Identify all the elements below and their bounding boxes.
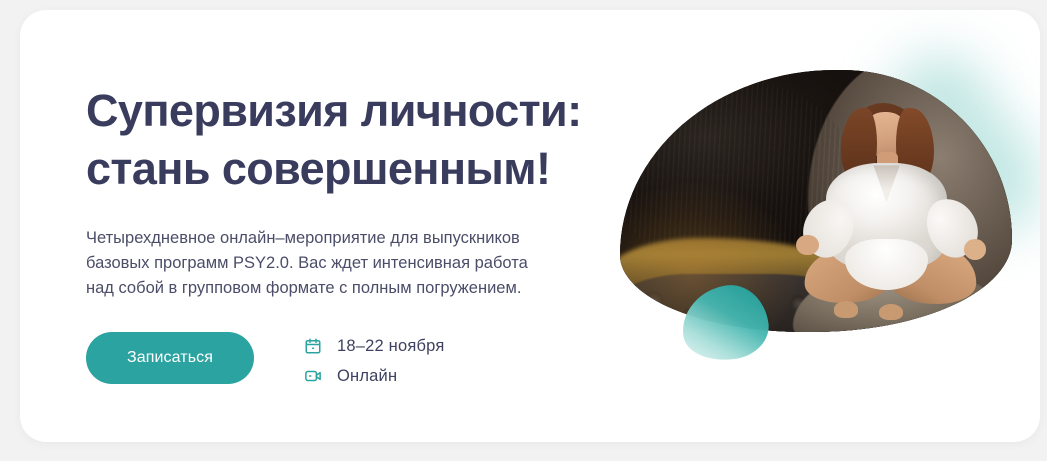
event-format-label: Онлайн: [337, 366, 397, 386]
signup-button[interactable]: Записаться: [86, 332, 254, 384]
meditating-woman: [792, 96, 980, 327]
hero-card: Супервизия личности: стань совершенным! …: [20, 10, 1040, 442]
foot-right: [879, 304, 903, 320]
event-meta-date: 18–22 ноября: [304, 336, 444, 356]
hero-description: Четырехдневное онлайн–мероприятие для вы…: [86, 226, 556, 301]
screenshot-root: Супервизия личности: стань совершенным! …: [0, 0, 1047, 461]
event-date-label: 18–22 ноября: [337, 336, 444, 356]
hand-right: [964, 239, 987, 260]
event-meta-list: 18–22 ноября Онлайн: [304, 332, 444, 386]
event-meta-format: Онлайн: [304, 366, 444, 386]
calendar-icon: [304, 337, 322, 355]
page-title: Супервизия личности: стань совершенным!: [86, 82, 586, 198]
hero-artwork: [606, 10, 1040, 442]
foot-left: [834, 301, 858, 317]
video-camera-icon: [304, 367, 322, 385]
hero-cta-row: Записаться 18–22 ноября: [86, 332, 444, 386]
hero-photo: [620, 70, 1012, 332]
photo-scene: [620, 70, 1012, 332]
hero-text-block: Супервизия личности: стань совершенным! …: [86, 82, 586, 301]
hand-left: [796, 235, 819, 256]
